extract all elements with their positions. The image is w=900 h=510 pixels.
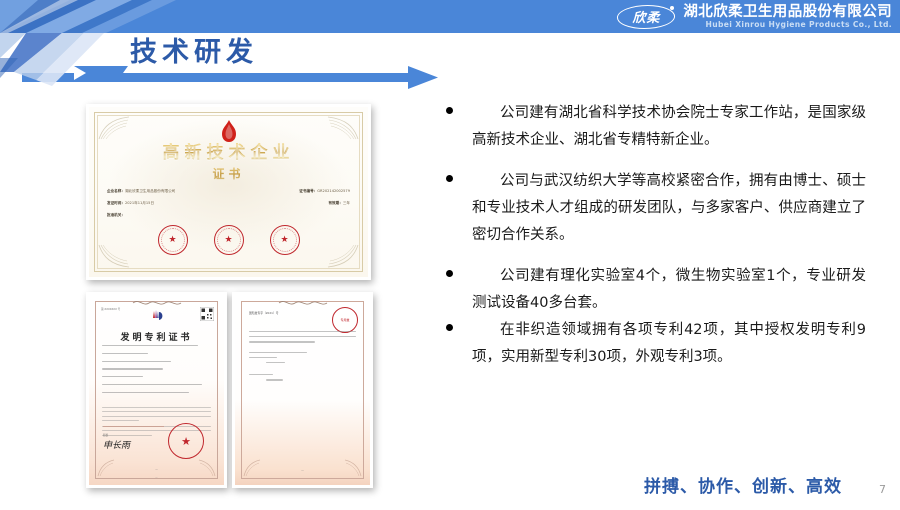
certificate-invention-patent[interactable]: 第 XXXXXXX 号 发明专利证书 (86, 292, 227, 488)
hitech-field-label: 证书编号： (299, 189, 317, 193)
patent-official-seal-icon (168, 423, 204, 459)
hitech-field-list: 企业名称：湖北欣柔卫生用品股份有限公司 证书编号：GR202142002579 … (107, 189, 350, 225)
hitech-field-value: 三年 (343, 201, 350, 205)
certificate-gallery: 高新技术企业 证书 企业名称：湖北欣柔卫生用品股份有限公司 证书编号：GR202… (78, 104, 378, 489)
patent-certificate-title: 发明专利证书 (89, 330, 224, 343)
patent-field-line (102, 345, 198, 346)
hitech-field-label: 企业名称： (107, 189, 125, 193)
hitech-certificate-subtitle: 证书 (89, 165, 368, 182)
bullet-dot-icon (446, 324, 453, 331)
bullet-dot-icon (446, 107, 453, 114)
patent-field-lines (102, 345, 211, 400)
bullet-item: 公司与武汉纺织大学等高校紧密合作，拥有由博士、硕士和专业技术人才组成的研发团队，… (446, 168, 866, 249)
hitech-field-label: 有效期： (328, 201, 342, 205)
hitech-field-value: 2021年11月15日 (125, 201, 154, 205)
logo-mark-text: 欣柔 (632, 7, 660, 26)
official-seal-icon (270, 225, 300, 255)
patent-field-line (102, 368, 163, 369)
bullet-item-text: 公司与武汉纺织大学等高校紧密合作，拥有由博士、硕士和专业技术人才组成的研发团队，… (446, 168, 866, 249)
hitech-field-row: 发证时间：2021年11月15日 有效期：三年 (107, 201, 350, 206)
bullet-dot-icon (446, 175, 453, 182)
official-seal-icon (214, 225, 244, 255)
hitech-field-label: 发证时间： (107, 201, 125, 205)
certificate-document[interactable]: 专用章 国知发专字〔2021〕号 — (232, 292, 373, 488)
patent-signature-rule (103, 426, 164, 427)
hitech-seal-group (89, 225, 368, 255)
bullet-item: 公司建有理化实验室4个，微生物实验室1个，专业研发测试设备40多台套。 (446, 263, 866, 317)
patent-code-text: 第 XXXXXXX 号 (101, 307, 120, 311)
patent-signature-label: 局长 (103, 433, 108, 437)
header-diagonal-decoration (0, 0, 340, 33)
patent-office-logo-icon (148, 309, 166, 325)
bullet-item: 公司建有湖北省科学技术协会院士专家工作站，是国家级高新技术企业、湖北省专精特新企… (446, 100, 866, 154)
bullet-dot-icon (446, 270, 453, 277)
bullet-item: 在非织造领域拥有各项专利42项，其中授权发明专利9项，实用新型专利30项，外观专… (446, 317, 866, 371)
patent-scroll-ornament (131, 298, 183, 307)
hitech-certificate-title: 高新技术企业 (89, 143, 368, 163)
footer-slogan: 拼搏、协作、创新、高效 (644, 472, 842, 497)
official-seal-icon (158, 225, 188, 255)
document-scroll-ornament (277, 298, 329, 307)
qr-code-icon (200, 307, 214, 321)
hitech-field-value: 湖北欣柔卫生用品股份有限公司 (125, 189, 175, 193)
hitech-flame-icon (216, 119, 242, 143)
certificate-hitech-enterprise[interactable]: 高新技术企业 证书 企业名称：湖北欣柔卫生用品股份有限公司 证书编号：GR202… (86, 104, 371, 280)
patent-field-line (102, 353, 148, 354)
company-name-cn: 湖北欣柔卫生用品股份有限公司 (683, 4, 892, 20)
document-footer-text: — (235, 468, 370, 472)
patent-signature-text: 申长雨 (103, 438, 130, 451)
company-name-block: 湖北欣柔卫生用品股份有限公司 Hubei Xinrou Hygiene Prod… (683, 4, 892, 30)
patent-field-line (102, 376, 143, 377)
document-seal-icon: 专用章 (332, 307, 358, 333)
bullet-item-text: 在非织造领域拥有各项专利42项，其中授权发明专利9项，实用新型专利30项，外观专… (446, 317, 866, 371)
bullet-list: 公司建有湖北省科学技术协会院士专家工作站，是国家级高新技术企业、湖北省专精特新企… (446, 100, 866, 371)
title-arrow-icon (22, 64, 438, 92)
hitech-corner-ornament (326, 115, 360, 141)
company-logo-group: 欣柔 湖北欣柔卫生用品股份有限公司 Hubei Xinrou Hygiene P… (615, 0, 892, 33)
header-bar: 欣柔 湖北欣柔卫生用品股份有限公司 Hubei Xinrou Hygiene P… (0, 0, 900, 33)
company-name-en: Hubei Xinrou Hygiene Products Co., Ltd. (683, 20, 892, 30)
hitech-field-row: 企业名称：湖北欣柔卫生用品股份有限公司 证书编号：GR202142002579 (107, 189, 350, 194)
patent-field-line (102, 361, 171, 362)
patent-footer-subtext: — (89, 476, 224, 479)
document-body-lines (249, 331, 356, 385)
page-number: 7 (879, 483, 886, 496)
bullet-item-text: 公司建有理化实验室4个，微生物实验室1个，专业研发测试设备40多台套。 (446, 263, 866, 317)
hitech-corner-ornament (97, 115, 131, 141)
hitech-field-row: 批准机关： (107, 213, 350, 218)
brand-logo-icon: 欣柔 (615, 4, 677, 30)
patent-field-line (102, 392, 189, 393)
logo-dot-icon (670, 6, 674, 10)
patent-footer-text: — (89, 468, 224, 471)
document-code-text: 国知发专字〔2021〕号 (249, 311, 279, 315)
patent-field-line (102, 384, 202, 385)
hitech-field-label: 批准机关： (107, 213, 125, 218)
hitech-field-value: GR202142002579 (317, 189, 350, 193)
bullet-item-text: 公司建有湖北省科学技术协会院士专家工作站，是国家级高新技术企业、湖北省专精特新企… (446, 100, 866, 154)
